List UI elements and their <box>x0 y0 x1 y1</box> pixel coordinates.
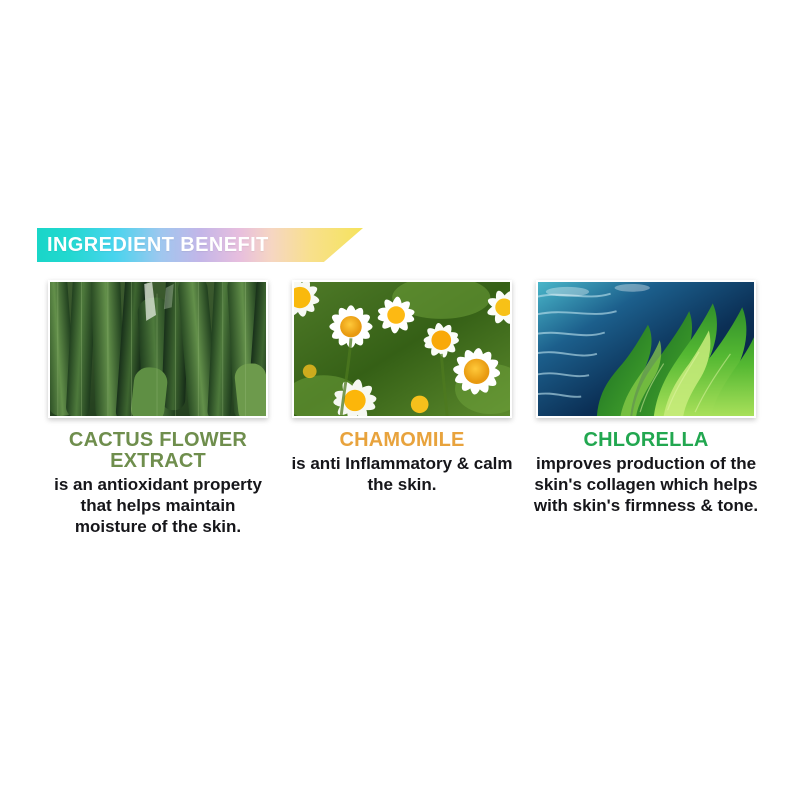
card-body-cactus: is an antioxidant property that helps ma… <box>48 474 268 537</box>
banner-label: INGREDIENT BENEFIT <box>47 234 269 256</box>
card-body-chlorella: improves production of the skin's collag… <box>530 453 762 516</box>
chamomile-photo-frame <box>292 280 512 418</box>
ingredient-card-chlorella: CHLORELLA improves production of the ski… <box>532 280 760 516</box>
chamomile-photo <box>294 282 510 416</box>
ingredient-card-cactus: CACTUS FLOWER EXTRACT is an antioxidant … <box>44 280 272 537</box>
card-title-chamomile: CHAMOMILE <box>290 430 514 451</box>
ingredient-card-chamomile: CHAMOMILE is anti Inflammatory & calm th… <box>288 280 516 495</box>
card-body-chamomile: is anti Inflammatory & calm the skin. <box>289 453 515 495</box>
chlorella-photo-frame <box>536 280 756 418</box>
ingredient-benefit-banner: INGREDIENT BENEFIT <box>37 228 363 264</box>
ingredient-benefit-infographic: INGREDIENT BENEFIT <box>0 0 800 800</box>
ingredient-card-row: CACTUS FLOWER EXTRACT is an antioxidant … <box>44 280 760 537</box>
cactus-photo-frame <box>48 280 268 418</box>
chlorella-photo <box>538 282 754 416</box>
card-title-cactus: CACTUS FLOWER EXTRACT <box>46 430 270 472</box>
cactus-photo <box>50 282 266 416</box>
card-title-chlorella: CHLORELLA <box>534 430 758 451</box>
